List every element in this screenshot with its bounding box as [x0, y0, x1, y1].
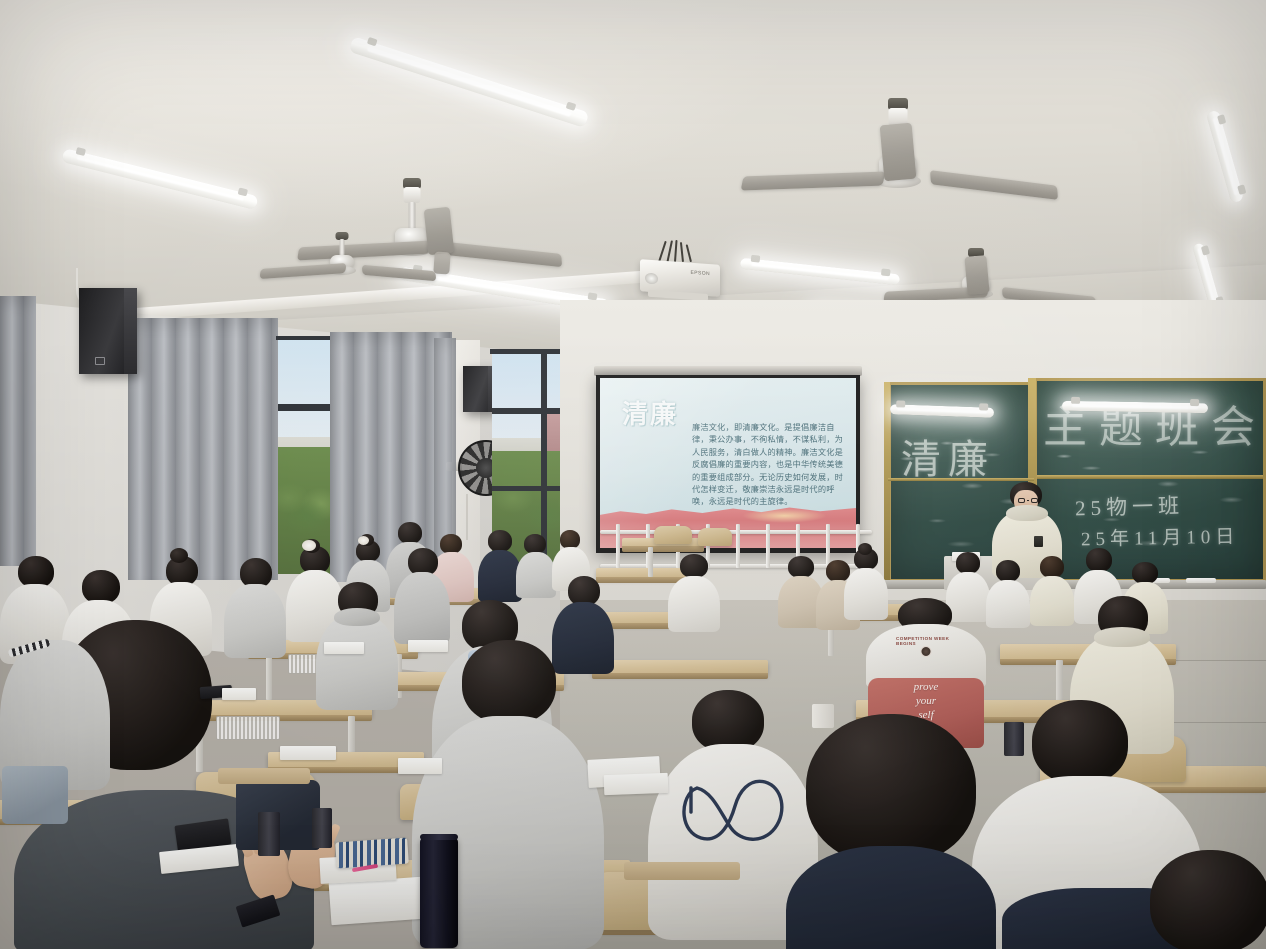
wall-speaker [79, 288, 137, 374]
travel-tumbler [258, 812, 280, 856]
slide-body-text: 廉洁文化，即清廉文化。是提倡廉洁自律，秉公办事，不徇私情，不谋私利，为人民服务，… [692, 422, 850, 509]
chalk-headline-left: 清廉 [901, 427, 995, 485]
tshirt-infinity-graphic [673, 768, 793, 856]
chair-seat [624, 862, 740, 880]
loose-paper [222, 688, 256, 700]
travel-tumbler [1004, 722, 1024, 756]
hair-scrunchie [302, 540, 316, 551]
window-curtain [128, 318, 278, 580]
window-curtain [0, 296, 36, 566]
hoodie-hood [1094, 627, 1150, 647]
ceiling-fan [820, 98, 1120, 228]
ceiling-projector: EPSON [640, 259, 720, 297]
window-frame [276, 336, 332, 340]
chair-back [698, 528, 732, 546]
hair-scrunchie [358, 536, 369, 545]
tee-script-line-2: your [916, 696, 936, 707]
chair-seat [218, 768, 310, 784]
tee-arc-text: COMPETITION WEEK BEGINS [896, 636, 956, 646]
desk-leg [648, 547, 653, 577]
tote-bag [2, 766, 68, 824]
wall-speaker [463, 366, 495, 412]
seated-student [668, 554, 720, 630]
speaker-logo [95, 357, 105, 365]
classroom-photo: EPSON [0, 0, 1266, 949]
slide-surface: 清廉 廉洁文化，即清廉文化。是提倡廉洁自律，秉公办事，不徇私情，不谋私利，为人民… [600, 378, 856, 548]
fan-blade [930, 170, 1058, 200]
hoodie-hood [334, 608, 380, 626]
chalk-date-line: 25年11月10日 [1081, 522, 1240, 552]
loose-paper [408, 640, 448, 652]
projector-lens [645, 273, 658, 285]
seated-student [786, 714, 996, 949]
fan-blade [362, 265, 436, 282]
seated-student [986, 560, 1030, 626]
notebook-page [329, 877, 424, 925]
chair-back [654, 526, 692, 544]
water-bottle [420, 838, 458, 948]
chalk-piece [1186, 578, 1216, 583]
student-desk [592, 660, 768, 674]
loose-paper [280, 746, 336, 760]
fan-blade [964, 255, 989, 295]
paper-cup [812, 704, 834, 728]
seated-student [516, 534, 556, 596]
eyeglasses [1018, 498, 1038, 503]
tee-badge [921, 646, 932, 657]
fan-blade [446, 242, 562, 267]
fan-blade [880, 123, 917, 182]
seated-student [1030, 556, 1074, 624]
seated-student [844, 548, 888, 618]
hoodie-chest-logo [1034, 536, 1043, 547]
ceiling-fan [236, 232, 436, 312]
slide-title: 清廉 [622, 394, 678, 431]
projector-brand-label: EPSON [690, 270, 710, 277]
chalkboard-left-midline [888, 478, 1034, 481]
window-pane [278, 338, 330, 574]
loose-paper [604, 773, 669, 795]
chalk-class-line: 25物一班 [1075, 490, 1185, 523]
tee-script-line-1: prove [914, 682, 939, 693]
seated-student [1150, 850, 1266, 949]
loose-paper [324, 642, 364, 654]
loose-paper [398, 758, 442, 774]
travel-tumbler [312, 808, 332, 848]
fan-blade [260, 263, 347, 279]
seated-student [946, 552, 990, 620]
hoodie-hood [1006, 505, 1048, 521]
